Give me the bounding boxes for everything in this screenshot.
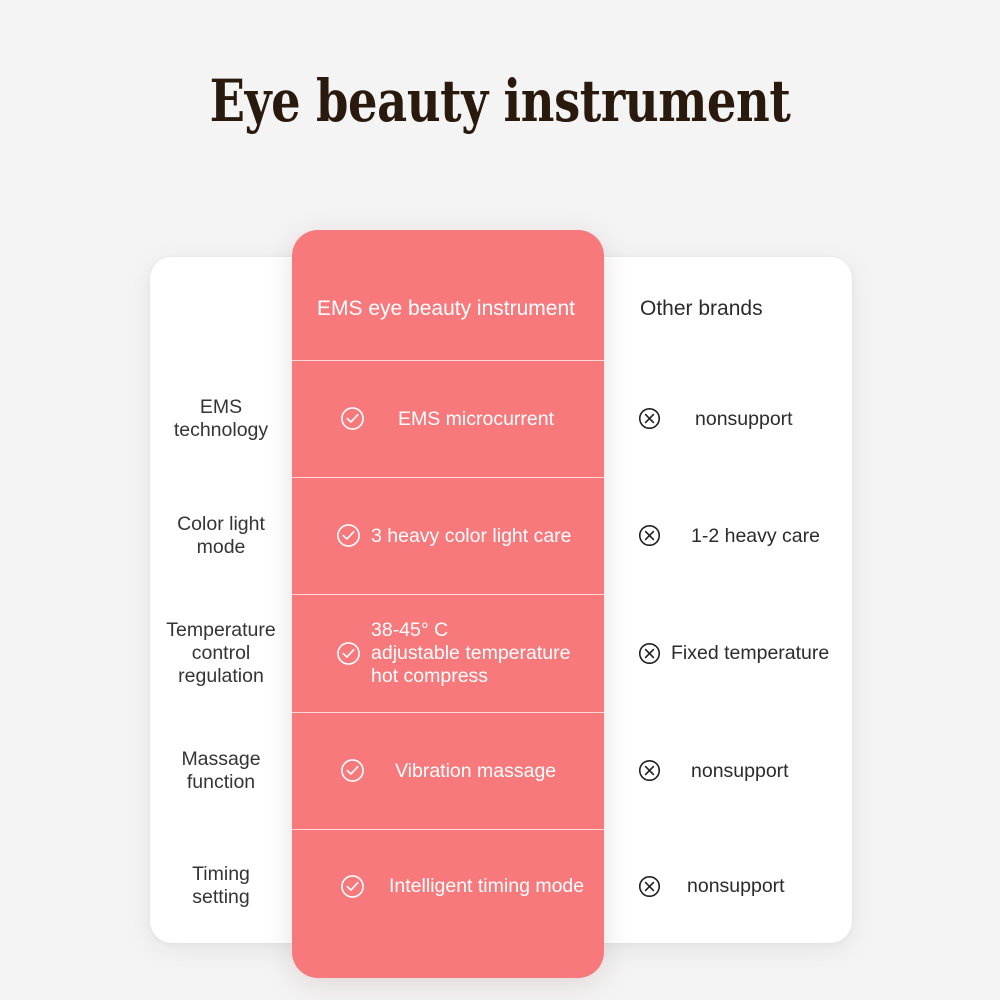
feature-label-timing-setting: Timing setting <box>150 863 292 909</box>
label-line: EMS <box>150 396 292 419</box>
header-cell-other: Other brands <box>604 297 852 321</box>
cell-text-ours: EMS microcurrent <box>365 407 554 431</box>
feature-label-temperature-control: Temperature control regulation <box>150 619 292 688</box>
cell-ours-ems-technology: EMS microcurrent <box>292 406 604 431</box>
label-line: Massage <box>150 748 292 771</box>
table-row: EMS technology EMS microcurrent nonsuppo… <box>150 360 852 477</box>
label-line: mode <box>150 536 292 559</box>
label-line: setting <box>150 886 292 909</box>
cell-ours-color-light-mode: 3 heavy color light care <box>292 523 604 548</box>
cell-text-other: 1-2 heavy care <box>661 524 820 548</box>
header-label-ours: EMS eye beauty instrument <box>292 297 575 321</box>
table-row: Temperature control regulation 38-45° C … <box>150 594 852 712</box>
feature-label-ems-technology: EMS technology <box>150 396 292 442</box>
table-row: Massage function Vibration massage nonsu… <box>150 712 852 829</box>
label-line: control <box>150 642 292 665</box>
label-line: technology <box>150 419 292 442</box>
comparison-table: EMS eye beauty instrument Other brands E… <box>150 257 852 943</box>
label-line: Timing <box>150 863 292 886</box>
cell-ours-massage-function: Vibration massage <box>292 758 604 783</box>
cell-other-timing-setting: nonsupport <box>604 874 852 898</box>
label-line: Temperature <box>150 619 292 642</box>
page-title: Eye beauty instrument <box>100 66 900 136</box>
feature-label-color-light-mode: Color light mode <box>150 513 292 559</box>
table-header-row: EMS eye beauty instrument Other brands <box>150 257 852 360</box>
cell-other-massage-function: nonsupport <box>604 759 852 783</box>
check-circle-icon <box>340 758 365 783</box>
cell-text-ours: Intelligent timing mode <box>365 874 584 898</box>
cross-circle-icon <box>638 642 661 665</box>
cell-other-temperature-control: Fixed temperature <box>604 641 852 665</box>
cell-ours-temperature-control: 38-45° C adjustable temperature hot comp… <box>292 619 604 688</box>
check-circle-icon <box>340 874 365 899</box>
check-circle-icon <box>336 641 361 666</box>
cross-circle-icon <box>638 407 661 430</box>
cell-text-ours: 38-45° C adjustable temperature hot comp… <box>361 619 570 688</box>
cross-circle-icon <box>638 875 661 898</box>
cell-other-color-light-mode: 1-2 heavy care <box>604 524 852 548</box>
cross-circle-icon <box>638 524 661 547</box>
table-row: Timing setting Intelligent timing mode n… <box>150 829 852 943</box>
cross-circle-icon <box>638 759 661 782</box>
cell-text-other: Fixed temperature <box>661 641 829 665</box>
cell-ours-timing-setting: Intelligent timing mode <box>292 874 604 899</box>
cell-text-line: 38-45° C <box>371 619 570 642</box>
table-row: Color light mode 3 heavy color light car… <box>150 477 852 594</box>
header-cell-ours: EMS eye beauty instrument <box>292 297 604 321</box>
label-line: regulation <box>150 665 292 688</box>
check-circle-icon <box>336 523 361 548</box>
cell-text-line: adjustable temperature <box>371 642 570 665</box>
cell-text-ours: Vibration massage <box>365 759 556 783</box>
header-label-other: Other brands <box>604 297 763 321</box>
cell-text-other: nonsupport <box>661 407 793 431</box>
cell-text-other: nonsupport <box>661 874 785 898</box>
label-line: Color light <box>150 513 292 536</box>
cell-other-ems-technology: nonsupport <box>604 407 852 431</box>
check-circle-icon <box>340 406 365 431</box>
feature-label-massage-function: Massage function <box>150 748 292 794</box>
label-line: function <box>150 771 292 794</box>
cell-text-other: nonsupport <box>661 759 789 783</box>
cell-text-line: hot compress <box>371 665 570 688</box>
cell-text-ours: 3 heavy color light care <box>361 524 572 548</box>
